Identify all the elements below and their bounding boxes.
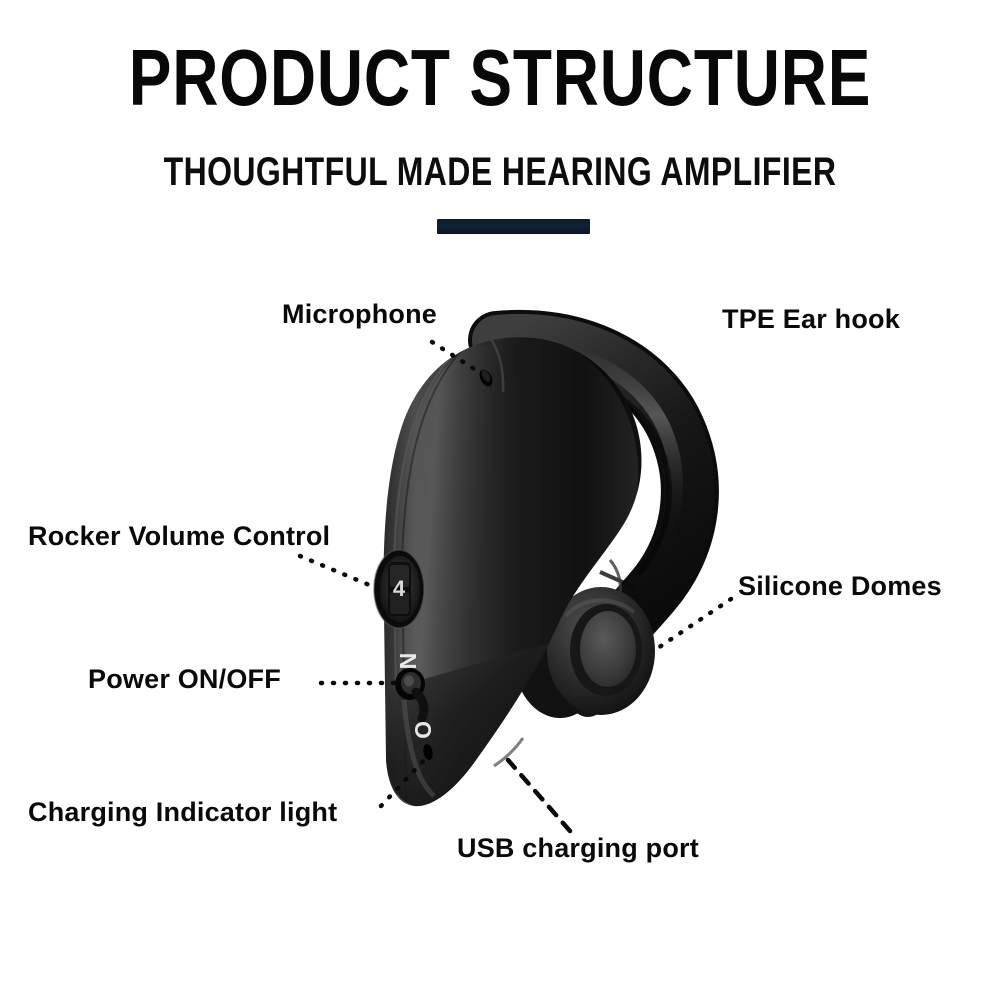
rocker-digit-marking: 4 [393, 576, 406, 601]
callout-label-microphone: Microphone [282, 299, 437, 329]
callout-label-charging-light: Charging Indicator light [28, 797, 337, 827]
product-structure-page: PRODUCT STRUCTURE THOUGHTFUL MADE HEARIN… [0, 0, 1000, 1000]
callout-label-usb-port: USB charging port [457, 833, 699, 863]
usb-charging-port-part [494, 738, 523, 766]
power-on-marking: N [395, 653, 421, 670]
callout-label-power-on-off: Power ON/OFF [88, 664, 281, 694]
rocker-volume-control-part: 4 [374, 550, 424, 628]
callout-label-silicone-domes: Silicone Domes [738, 571, 942, 601]
callout-label-tpe-ear-hook: TPE Ear hook [722, 304, 900, 334]
callout-label-rocker-volume: Rocker Volume Control [28, 521, 330, 551]
power-off-marking: O [410, 721, 436, 739]
